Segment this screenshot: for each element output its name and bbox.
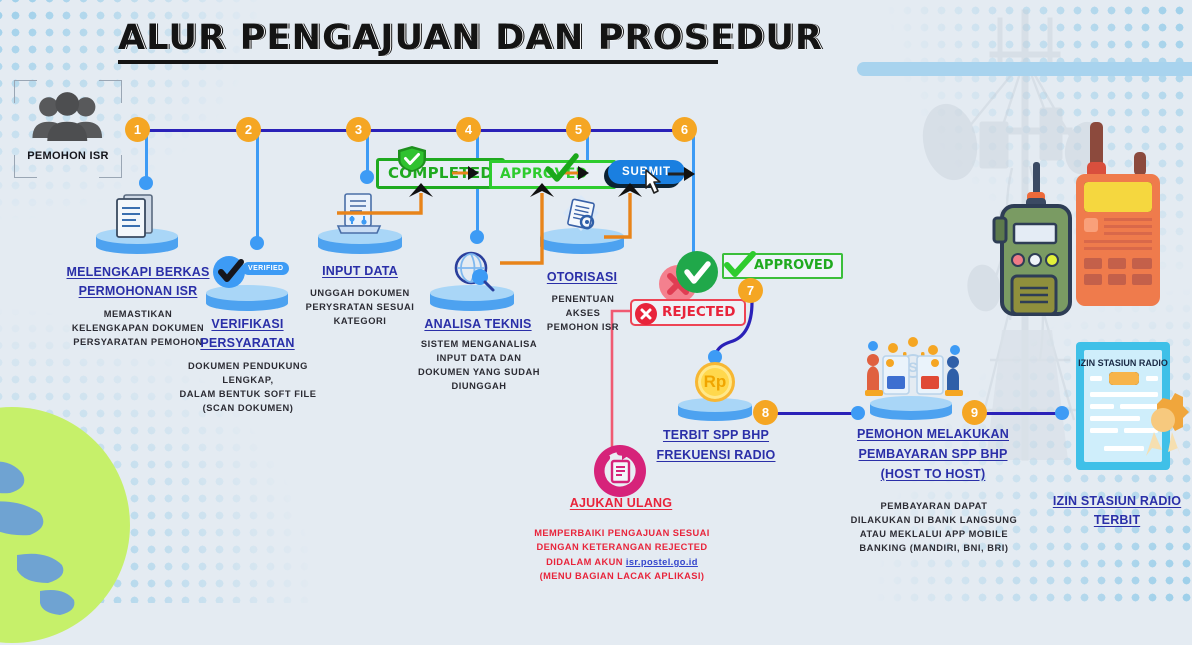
page-title-wrapper: ALUR PENGAJUAN DAN PROSEDUR: [118, 18, 823, 64]
check-mark-icon: [545, 154, 579, 184]
decision-icons: [656, 250, 728, 306]
step-desc-4: SISTEM MENGANALISA INPUT DATA DAN DOKUME…: [406, 338, 552, 394]
drop-dot-4: [470, 230, 484, 244]
reapply-desc: MEMPERBAIKI PENGAJUAN SESUAI DENGAN KETE…: [532, 526, 712, 584]
reapply-title: AJUKAN ULANG: [548, 496, 694, 510]
drop-dot-2: [250, 236, 264, 250]
rail-dot-9: [1055, 406, 1069, 420]
verified-badge: VERIFIED: [242, 262, 289, 275]
step-desc-5: PENENTUAN AKSES PEMOHON ISR: [520, 293, 646, 335]
connector-arrow-3: [337, 175, 457, 223]
step-title-8: PEMOHON MELAKUKAN PEMBAYARAN SPP BHP (HO…: [840, 424, 1026, 484]
step-node-2[interactable]: 2: [236, 117, 261, 142]
step-desc-8: PEMBAYARAN DAPAT DILAKUKAN DI BANK LANGS…: [836, 500, 1032, 556]
step-node-8[interactable]: 8: [753, 400, 778, 425]
step-node-6[interactable]: 6: [672, 117, 697, 142]
page-title: ALUR PENGAJUAN DAN PROSEDUR: [118, 18, 823, 58]
step-node-5[interactable]: 5: [566, 117, 591, 142]
step-node-4[interactable]: 4: [456, 117, 481, 142]
podium-8: [870, 396, 952, 424]
certificate-icon: IZIN STASIUN RADIO: [1068, 336, 1192, 486]
step-node-9[interactable]: 9: [962, 400, 987, 425]
reapply-link[interactable]: isr.postel.go.id: [626, 557, 698, 567]
magnifier-search-icon: [452, 250, 500, 292]
certificate-heading: IZIN STASIUN RADIO: [1078, 358, 1168, 368]
cursor-click-icon: [640, 168, 666, 200]
step-node-1[interactable]: 1: [125, 117, 150, 142]
step-desc-2: DOKUMEN PENDUKUNG LENGKAP, DALAM BENTUK …: [168, 360, 328, 416]
main-rail: [137, 129, 685, 132]
bottom-rail-b: [980, 412, 1062, 415]
globe-icon: [0, 395, 172, 645]
rupiah-coin-icon: Rp: [695, 362, 735, 402]
step-node-3[interactable]: 3: [346, 117, 371, 142]
applicant-label: PEMOHON ISR: [14, 150, 122, 162]
drop-line-1: [145, 135, 148, 181]
rejected-x-icon: [634, 302, 658, 326]
title-underline: [118, 60, 718, 64]
podium-2: [206, 285, 288, 315]
arrow-right-3: [452, 164, 482, 182]
refresh-document-icon: [592, 443, 648, 499]
applicant-frame: PEMOHON ISR: [14, 80, 122, 178]
drop-dot-1: [139, 176, 153, 190]
decorative-bar: [857, 62, 1192, 76]
handheld-radios-illustration: [982, 78, 1182, 308]
step-node-7[interactable]: 7: [738, 278, 763, 303]
arrow-right-5: [668, 165, 698, 183]
check-mark-approved-icon: [724, 252, 756, 278]
mobile-banking-icon: S: [857, 336, 969, 398]
step-title-1: MELENGKAPI BERKAS PERMOHONAN ISR: [58, 263, 218, 302]
document-stack-icon: [110, 193, 160, 239]
step-title-7: TERBIT SPP BHP FREKUENSI RADIO: [650, 425, 782, 465]
bottom-rail-a: [776, 412, 858, 415]
rail-dot-8: [851, 406, 865, 420]
step-title-9: IZIN STASIUN RADIO TERBIT: [1042, 492, 1192, 530]
infographic-canvas: ALUR PENGAJUAN DAN PROSEDUR PEMOHON ISR …: [0, 0, 1192, 583]
drop-line-3: [366, 135, 369, 175]
step-title-3: INPUT DATA: [300, 262, 420, 281]
group-people-icon: [28, 92, 108, 144]
shield-check-icon: [397, 146, 427, 172]
drop-line-2: [256, 135, 259, 241]
